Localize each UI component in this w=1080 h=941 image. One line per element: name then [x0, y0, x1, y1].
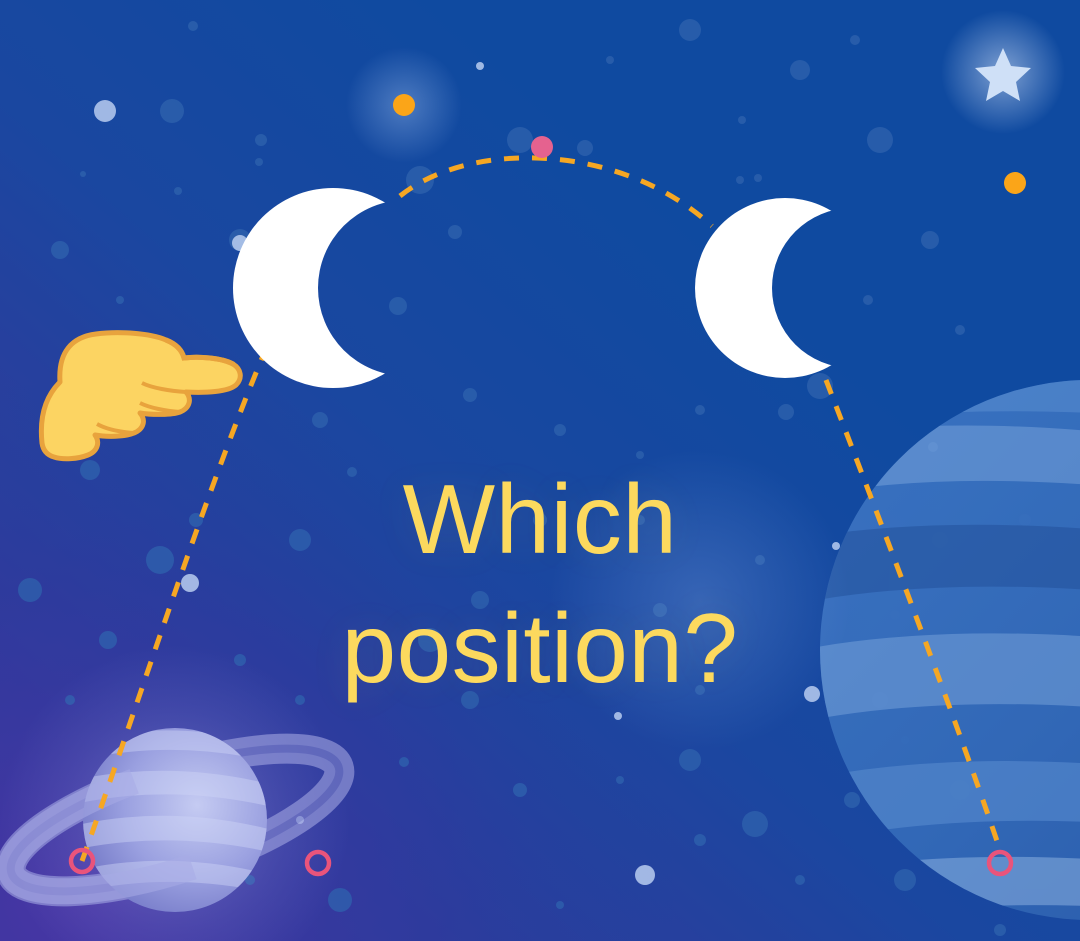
answer-marker-right-hit[interactable]: [976, 839, 1024, 887]
answer-marker-middle-hit[interactable]: [294, 839, 342, 887]
answer-marker-left-hit[interactable]: [58, 837, 106, 885]
current-position-marker: [531, 136, 553, 158]
orange-dot-halo: [346, 47, 462, 163]
orange-dot-top-right: [1004, 172, 1026, 194]
orange-dot-top-left: [393, 94, 415, 116]
orbit-arc-segment: [400, 158, 712, 226]
space-quiz-scene: Which position?: [0, 0, 1080, 941]
answer-markers: [71, 850, 1011, 874]
glowing-star: [975, 48, 1031, 101]
pointing-hand-cursor: [41, 333, 240, 459]
star-halo: [941, 10, 1065, 134]
question-text: Which position?: [0, 455, 1080, 714]
